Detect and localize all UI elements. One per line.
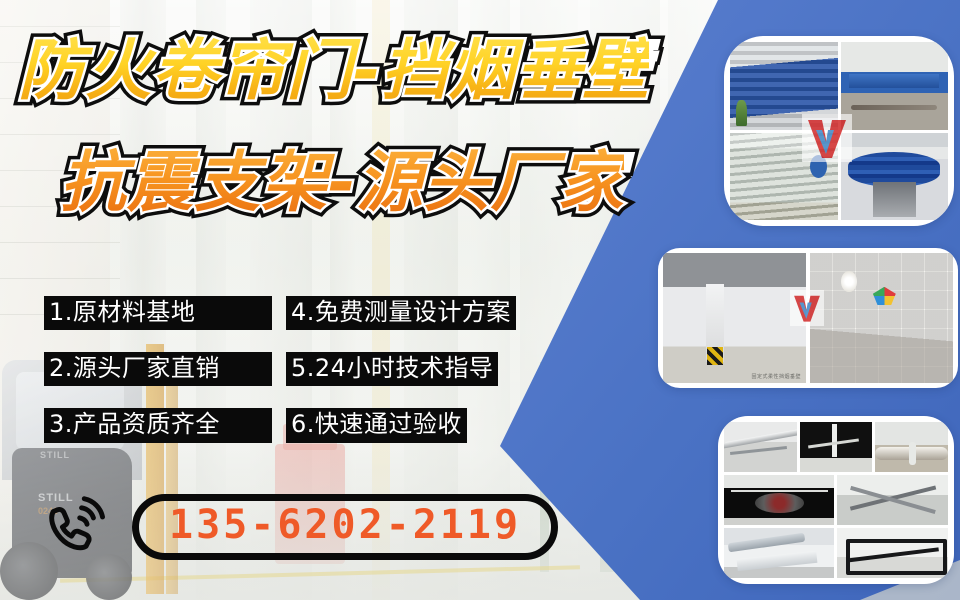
photo-air-duct-bracing [724,528,834,578]
feature-row: 2.源头厂家直销 5.24小时技术指导 [44,352,564,386]
photo-ceiling-pipe-rail [724,422,797,472]
photo-ceiling-downlights [810,253,953,383]
fire-shutter-photo-grid[interactable] [724,36,954,226]
feature-item-2: 2.源头厂家直销 [44,352,272,386]
photo-exhaust-fan-brace [724,475,834,525]
photo-blue-fire-shutter-door [730,42,838,130]
photo-shutter-drum-roller [841,133,949,221]
photo-parking-garage: 固定式柔性挡烟垂壁 [663,253,806,383]
contact-bar[interactable]: 135-6202-2119 [44,494,558,560]
photo-large-ceiling-fan [837,475,948,525]
photo-steel-rolling-shutter [730,133,838,221]
headline-primary-text: 防火卷帘门-挡烟垂壁 [18,32,649,109]
feature-list: 1.原材料基地 4.免费测量设计方案 2.源头厂家直销 5.24小时技术指导 3… [44,296,564,465]
feature-item-3: 3.产品资质齐全 [44,408,272,442]
feature-item-5: 5.24小时技术指导 [286,352,498,386]
feature-item-1: 1.原材料基地 [44,296,272,330]
feature-row: 1.原材料基地 4.免费测量设计方案 [44,296,564,330]
seismic-bracket-collage[interactable] [718,416,954,584]
phone-ringing-icon [44,496,110,558]
headline-secondary-text: 抗震支架-源头厂家 [60,144,624,221]
photo-caption: 固定式柔性挡烟垂壁 [751,373,801,380]
photo-steel-frame-bracket [837,528,948,578]
photo-pipe-clamp-duct [875,422,948,472]
phone-number: 135-6202-2119 [169,503,521,548]
photo-roll-forming-machine [841,42,949,130]
phone-number-pill[interactable]: 135-6202-2119 [132,494,558,560]
promo-poster: STILL STILL 0248 防火卷帘门-挡烟垂壁 防火卷帘门-挡 [0,0,960,600]
photo-dark-ceiling-brace [800,422,873,472]
feature-item-4: 4.免费测量设计方案 [286,296,516,330]
headline-primary: 防火卷帘门-挡烟垂壁 防火卷帘门-挡烟垂壁 防火卷帘门-挡烟垂壁 [18,38,649,104]
installation-site-photos[interactable]: 固定式柔性挡烟垂壁 [658,248,958,388]
feature-item-6: 6.快速通过验收 [286,408,467,442]
headline-secondary: 抗震支架-源头厂家 抗震支架-源头厂家 抗震支架-源头厂家 [60,150,624,216]
feature-row: 3.产品资质齐全 6.快速通过验收 [44,408,564,442]
